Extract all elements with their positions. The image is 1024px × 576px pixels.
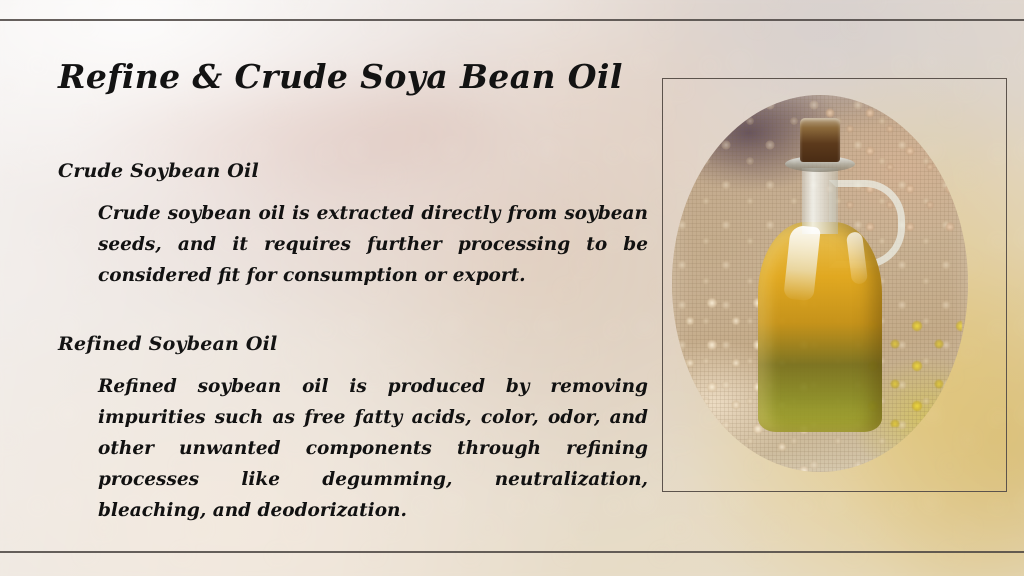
photo-vignette <box>672 95 968 472</box>
slide-title: Refine & Crude Soya Bean Oil <box>58 57 623 96</box>
section-body-refined-soybean-oil: Refined soybean oil is produced by remov… <box>98 371 648 526</box>
slide-canvas: Refine & Crude Soya Bean Oil Crude Soybe… <box>0 0 1024 576</box>
section-heading-crude-soybean-oil: Crude Soybean Oil <box>58 160 259 182</box>
text-column: Refine & Crude Soya Bean Oil Crude Soybe… <box>0 0 660 576</box>
soybean-oil-photo <box>672 95 968 472</box>
section-heading-refined-soybean-oil: Refined Soybean Oil <box>58 333 277 355</box>
section-body-crude-soybean-oil: Crude soybean oil is extracted directly … <box>98 198 648 291</box>
